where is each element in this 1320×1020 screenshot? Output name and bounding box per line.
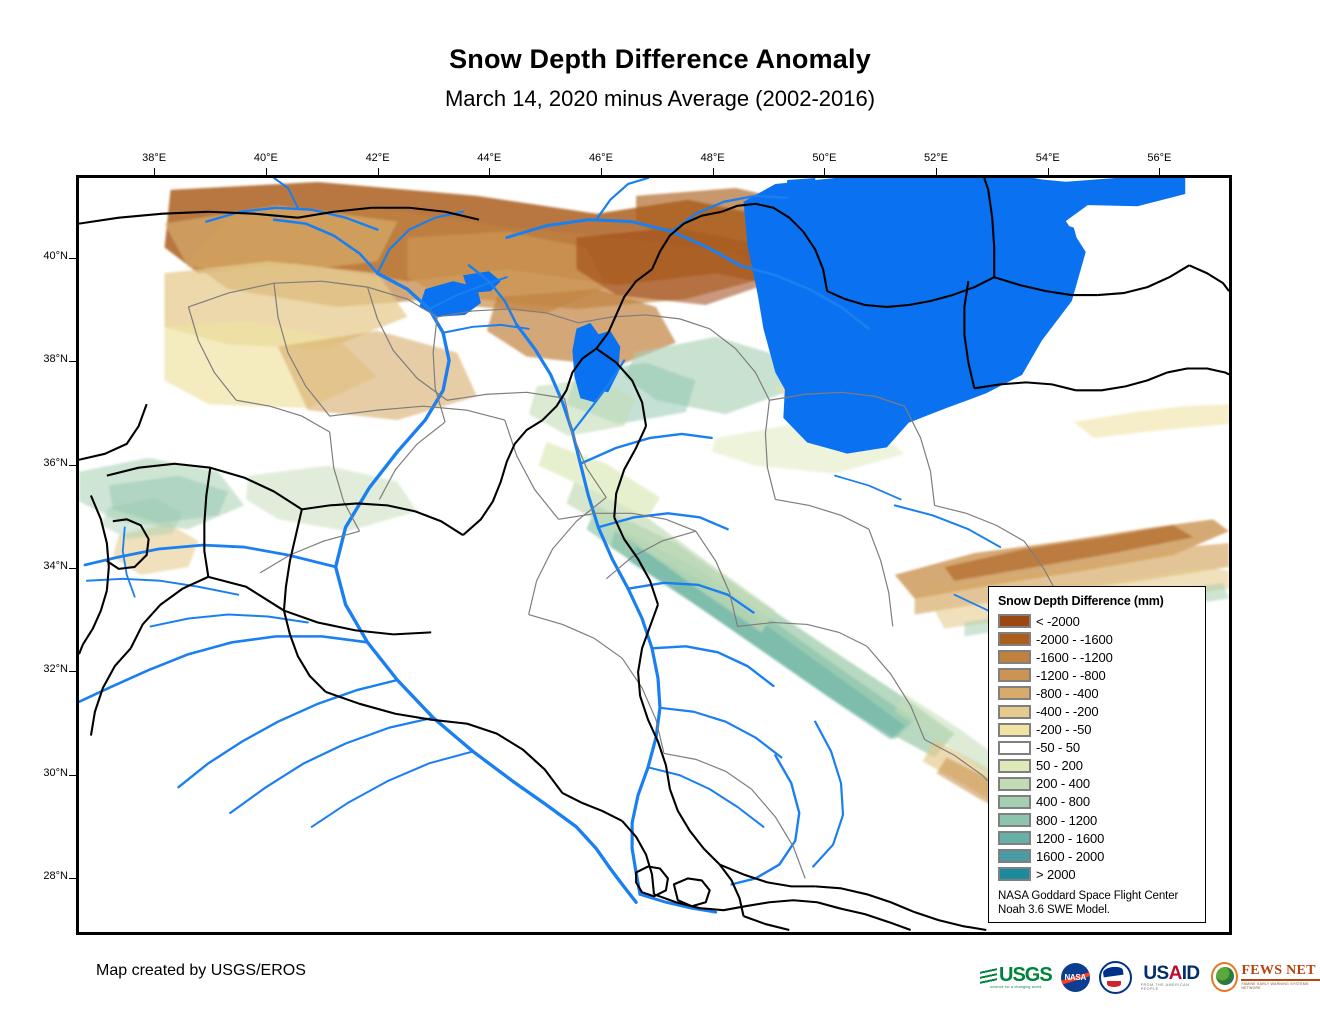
fews-logo-tagline: FAMINE EARLY WARNING SYSTEMS NETWORK	[1241, 982, 1320, 990]
longitude-tick	[1048, 168, 1049, 175]
latitude-tick	[69, 361, 76, 362]
legend-row: -200 - -50	[998, 721, 1197, 739]
legend-swatch	[998, 867, 1031, 881]
legend-swatch	[998, 650, 1031, 664]
legend-label: -200 - -50	[1036, 722, 1091, 737]
legend-row: -2000 - -1600	[998, 630, 1197, 648]
legend-label: -1600 - -1200	[1036, 650, 1113, 665]
legend-label: < -2000	[1036, 614, 1080, 629]
legend-swatch	[998, 759, 1031, 773]
legend-row: 200 - 400	[998, 775, 1197, 793]
legend-row: -50 - 50	[998, 739, 1197, 757]
legend-label: -800 - -400	[1036, 686, 1099, 701]
latitude-label: 40°N	[8, 250, 68, 262]
longitude-tick	[266, 168, 267, 175]
legend-swatch	[998, 741, 1031, 755]
legend-swatch	[998, 849, 1031, 863]
latitude-label: 30°N	[8, 767, 68, 779]
fews-rule	[1241, 979, 1320, 981]
latitude-label: 38°N	[8, 353, 68, 365]
legend-label: 800 - 1200	[1036, 813, 1097, 828]
page-subtitle: March 14, 2020 minus Average (2002-2016)	[0, 86, 1320, 112]
nasa-logo-text: NASA	[1064, 973, 1085, 982]
legend-source-line-2: Noah 3.6 SWE Model.	[998, 904, 1197, 918]
latitude-label: 32°N	[8, 663, 68, 675]
legend-swatch	[998, 813, 1031, 827]
longitude-label: 48°E	[683, 152, 743, 164]
usgs-logo[interactable]: USGS science for a changing world	[980, 961, 1052, 993]
legend-label: 50 - 200	[1036, 758, 1083, 773]
usaid-logo-tagline: FROM THE AMERICAN PEOPLE	[1141, 983, 1202, 991]
agency-logos: USGS science for a changing world NASA U…	[980, 958, 1320, 996]
longitude-tick	[378, 168, 379, 175]
page-title: Snow Depth Difference Anomaly	[0, 44, 1320, 75]
legend-source: NASA Goddard Space Flight Center Noah 3.…	[998, 890, 1197, 917]
legend-entries: < -2000-2000 - -1600-1600 - -1200-1200 -…	[998, 612, 1197, 883]
legend-label: 1200 - 1600	[1036, 831, 1104, 846]
fews-logo-text: FEWS NET	[1241, 964, 1320, 978]
legend-row: > 2000	[998, 865, 1197, 883]
nasa-meatball-icon: NASA	[1061, 963, 1090, 992]
latitude-tick	[69, 671, 76, 672]
usaid-logo-text: USAID	[1143, 964, 1199, 983]
latitude-tick	[69, 465, 76, 466]
legend-label: > 2000	[1036, 867, 1076, 882]
longitude-tick	[824, 168, 825, 175]
longitude-label: 44°E	[459, 152, 519, 164]
latitude-label: 36°N	[8, 457, 68, 469]
latitude-tick	[69, 568, 76, 569]
latitude-tick	[69, 775, 76, 776]
longitude-label: 40°E	[236, 152, 296, 164]
latitude-tick	[69, 258, 76, 259]
legend-swatch	[998, 795, 1031, 809]
longitude-label: 54°E	[1018, 152, 1078, 164]
longitude-label: 42°E	[348, 152, 408, 164]
legend-row: 800 - 1200	[998, 811, 1197, 829]
legend-swatch	[998, 632, 1031, 646]
legend-label: 200 - 400	[1036, 776, 1090, 791]
legend-label: 400 - 800	[1036, 794, 1090, 809]
legend-swatch	[998, 686, 1031, 700]
nasa-logo[interactable]: NASA	[1061, 961, 1090, 993]
legend-swatch	[998, 777, 1031, 791]
legend-label: -2000 - -1600	[1036, 632, 1113, 647]
map-legend[interactable]: Snow Depth Difference (mm) < -2000-2000 …	[988, 586, 1206, 923]
longitude-label: 52°E	[906, 152, 966, 164]
fews-net-logo[interactable]: FEWS NET FAMINE EARLY WARNING SYSTEMS NE…	[1211, 961, 1320, 993]
legend-title: Snow Depth Difference (mm)	[998, 594, 1197, 608]
latitude-tick	[69, 878, 76, 879]
longitude-label: 46°E	[571, 152, 631, 164]
legend-row: -400 - -200	[998, 702, 1197, 720]
usgs-wave-icon	[980, 965, 997, 986]
legend-label: -50 - 50	[1036, 740, 1080, 755]
longitude-tick	[1159, 168, 1160, 175]
noaa-seal-icon	[1099, 961, 1132, 994]
usgs-logo-text: USGS	[999, 965, 1052, 985]
legend-label: 1600 - 2000	[1036, 849, 1104, 864]
longitude-label: 56°E	[1129, 152, 1189, 164]
legend-row: 50 - 200	[998, 757, 1197, 775]
legend-row: -1200 - -800	[998, 666, 1197, 684]
longitude-tick	[489, 168, 490, 175]
legend-label: -400 - -200	[1036, 704, 1099, 719]
longitude-label: 50°E	[794, 152, 854, 164]
map-credit: Map created by USGS/EROS	[96, 962, 306, 980]
fews-globe-icon	[1211, 962, 1238, 992]
legend-label: -1200 - -800	[1036, 668, 1106, 683]
longitude-label: 38°E	[124, 152, 184, 164]
legend-swatch	[998, 668, 1031, 682]
longitude-tick	[713, 168, 714, 175]
legend-swatch	[998, 614, 1031, 628]
legend-source-line-1: NASA Goddard Space Flight Center	[998, 890, 1197, 904]
longitude-tick	[154, 168, 155, 175]
legend-row: 1200 - 1600	[998, 829, 1197, 847]
latitude-label: 34°N	[8, 560, 68, 572]
legend-swatch	[998, 831, 1031, 845]
legend-row: 1600 - 2000	[998, 847, 1197, 865]
longitude-tick	[936, 168, 937, 175]
legend-row: < -2000	[998, 612, 1197, 630]
noaa-logo[interactable]	[1099, 961, 1132, 993]
usaid-logo[interactable]: USAID FROM THE AMERICAN PEOPLE	[1141, 961, 1202, 993]
longitude-tick	[601, 168, 602, 175]
latitude-label: 28°N	[8, 870, 68, 882]
legend-swatch	[998, 705, 1031, 719]
legend-row: 400 - 800	[998, 793, 1197, 811]
legend-row: -1600 - -1200	[998, 648, 1197, 666]
legend-swatch	[998, 723, 1031, 737]
legend-row: -800 - -400	[998, 684, 1197, 702]
usgs-logo-tagline: science for a changing world	[990, 985, 1041, 989]
